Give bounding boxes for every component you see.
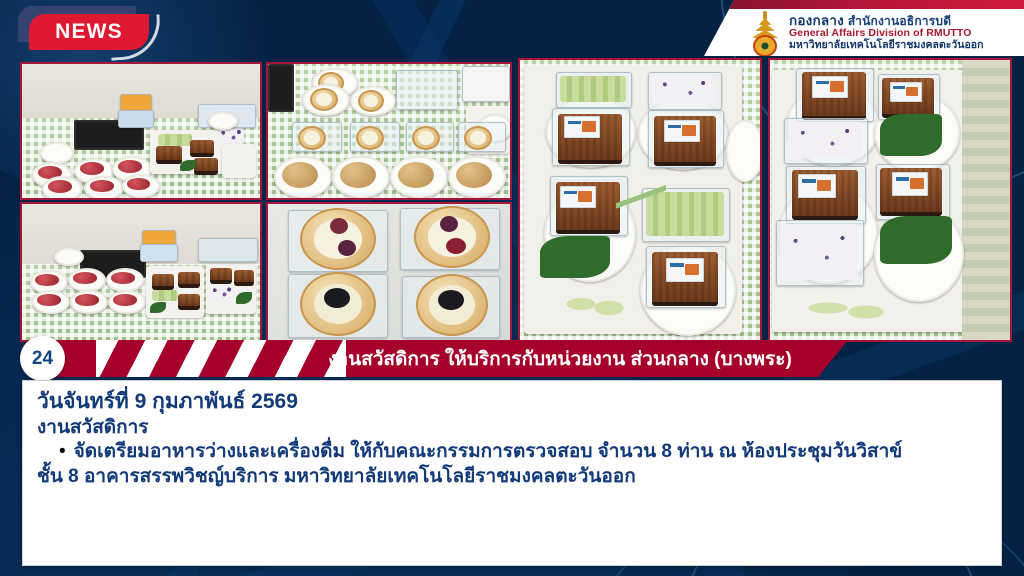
logo-thai-sub: สำนักงานอธิการบดี [848, 14, 951, 28]
photo-5 [518, 58, 762, 342]
content-bullet-text: จัดเตรียมอาหารว่างและเครื่องดื่ม ให้กับค… [74, 440, 903, 464]
logo-thai-main-row: กองกลาง สำนักงานอธิการบดี [789, 13, 983, 28]
organization-logo-band: กองกลาง สำนักงานอธิการบดี General Affair… [704, 0, 1024, 56]
content-department: งานสวัสดิการ [37, 416, 987, 440]
news-badge-label: NEWS [55, 20, 123, 44]
news-badge-chip: NEWS [29, 14, 149, 50]
photo-6 [768, 58, 1012, 342]
bullet-marker-icon: • [59, 440, 66, 464]
news-badge: NEWS [18, 6, 158, 54]
content-location: ชั้น 8 อาคารสรรพวิชญ์บริการ มหาวิทยาลัยเ… [37, 465, 987, 489]
content-blank-space [37, 489, 987, 549]
content-bullet-row: • จัดเตรียมอาหารว่างและเครื่องดื่ม ให้กั… [59, 440, 987, 464]
logo-thai-university: มหาวิทยาลัยเทคโนโลยีราชมงคลตะวันออก [789, 40, 983, 52]
slide-root: NEWS กองกลาง สำนักงานอธิการบดี General A… [0, 0, 1024, 576]
logo-text-lines: กองกลาง สำนักงานอธิการบดี General Affair… [789, 13, 983, 52]
photo-1 [20, 62, 262, 200]
banner-title: งานสวัสดิการ ให้บริการกับหน่วยงาน ส่วนกล… [280, 340, 840, 377]
logo-content: กองกลาง สำนักงานอธิการบดี General Affair… [748, 11, 983, 53]
slide-number: 24 [32, 348, 53, 370]
logo-thai-main: กองกลาง [789, 13, 844, 28]
logo-english: General Affairs Division of RMUTTO [789, 28, 983, 40]
slide-number-badge: 24 [20, 336, 65, 381]
photo-4 [266, 202, 512, 342]
photo-2 [20, 202, 262, 342]
logo-band-red-stripe [704, 0, 1024, 9]
content-panel: วันจันทร์ที่ 9 กุมภาพันธ์ 2569 งานสวัสดิ… [22, 380, 1002, 566]
content-date: วันจันทร์ที่ 9 กุมภาพันธ์ 2569 [37, 389, 987, 416]
royal-crest-icon [748, 11, 782, 53]
photo-3 [266, 62, 512, 200]
